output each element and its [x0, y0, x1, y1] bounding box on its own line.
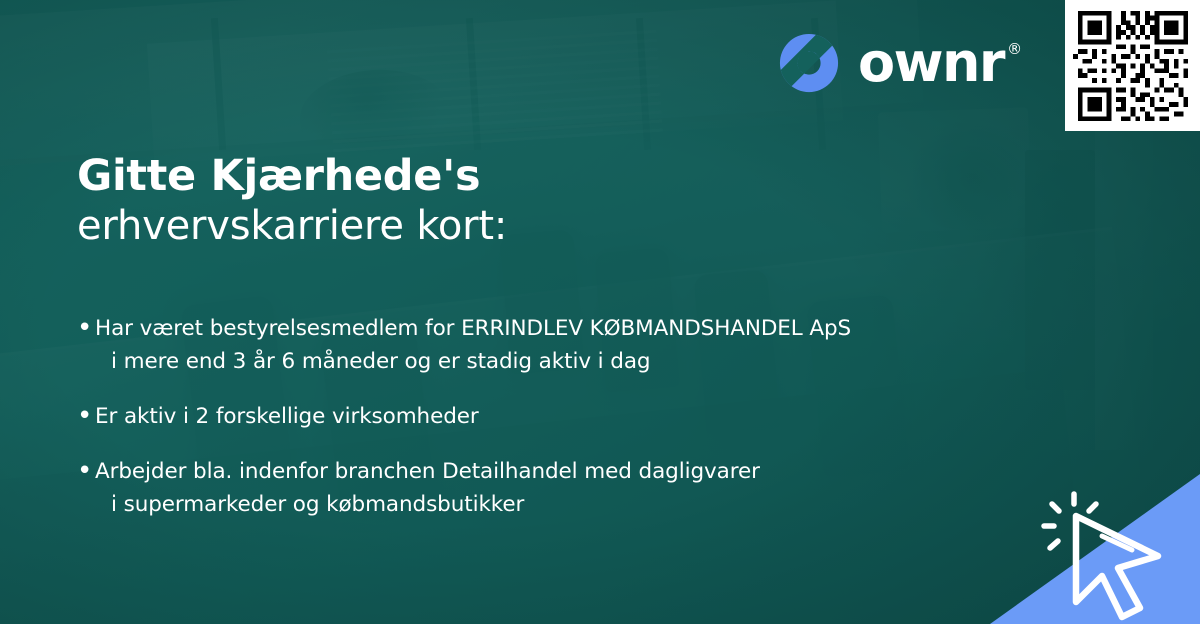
registered-trademark-icon: ®: [1007, 42, 1021, 57]
list-item: • Arbejder bla. indenfor branchen Detail…: [77, 455, 1077, 521]
page-title: Gitte Kjærhede's erhvervskarriere kort:: [77, 152, 507, 250]
title-line-2: erhvervskarriere kort:: [77, 202, 507, 250]
bullet-icon: •: [77, 400, 95, 433]
list-item: • Er aktiv i 2 forskellige virksomheder: [77, 400, 1077, 433]
ownr-logo-icon: [778, 32, 840, 94]
brand-lockup: ownr ®: [778, 32, 1021, 94]
fact-line-secondary: i supermarkeder og købmandsbutikker: [95, 488, 1077, 521]
fact-line-primary: Arbejder bla. indenfor branchen Detailha…: [95, 455, 1077, 488]
career-facts-list: • Har været bestyrelsesmedlem for ERRIND…: [77, 312, 1077, 521]
fact-line-primary: Har været bestyrelsesmedlem for ERRINDLE…: [95, 312, 1077, 345]
title-line-1: Gitte Kjærhede's: [77, 152, 507, 202]
list-item: • Har været bestyrelsesmedlem for ERRIND…: [77, 312, 1077, 378]
qr-code[interactable]: [1065, 0, 1200, 131]
bullet-icon: •: [77, 455, 95, 488]
brand-wordmark: ownr ®: [858, 36, 1021, 90]
brand-name: ownr: [858, 36, 1004, 90]
career-card: ownr ®: [0, 0, 1200, 624]
fact-line-secondary: i mere end 3 år 6 måneder og er stadig a…: [95, 345, 1077, 378]
fact-line-primary: Er aktiv i 2 forskellige virksomheder: [95, 400, 1077, 433]
bullet-icon: •: [77, 312, 95, 345]
